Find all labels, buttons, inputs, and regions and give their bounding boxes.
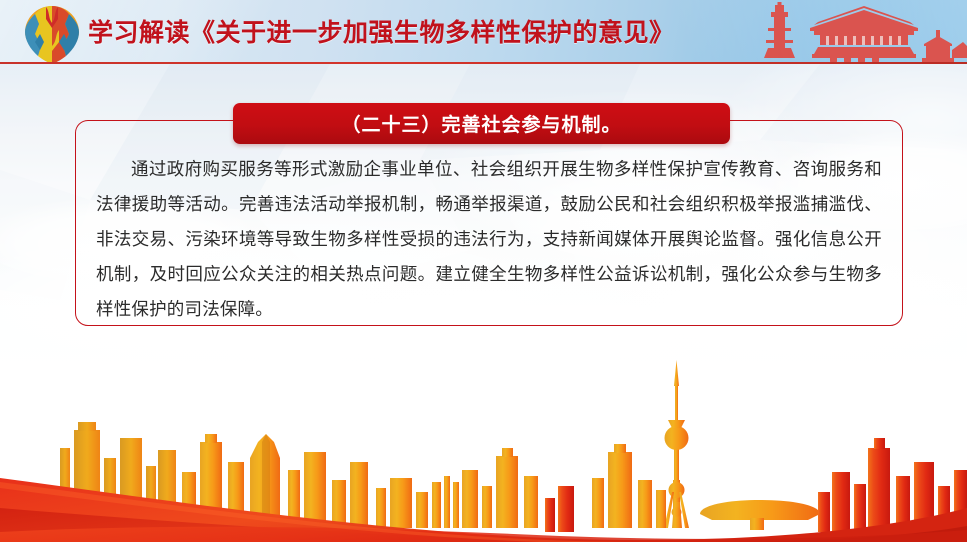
header-divider-rule — [0, 62, 967, 64]
slide-root: 学习解读《关于进一步加强生物多样性保护的意见》 （二十三）完善社会参与机制。 通… — [0, 0, 967, 542]
page-title: 学习解读《关于进一步加强生物多样性保护的意见》 — [88, 13, 675, 49]
page-header: 学习解读《关于进一步加强生物多样性保护的意见》 — [0, 0, 967, 64]
section-banner: （二十三）完善社会参与机制。 — [233, 103, 730, 144]
section-banner-label: （二十三）完善社会参与机制。 — [341, 110, 621, 137]
oriental-pearl-tower-icon — [664, 360, 689, 528]
city-skyline-silhouette — [0, 330, 967, 542]
footer-graphic — [0, 330, 967, 542]
body-paragraph: 通过政府购买服务等形式激励企事业单位、社会组织开展生物多样性保护宣传教育、咨询服… — [96, 152, 882, 327]
tiananmen-gate-icon — [752, 2, 967, 64]
body-text: 通过政府购买服务等形式激励企事业单位、社会组织开展生物多样性保护宣传教育、咨询服… — [96, 152, 882, 327]
hot-air-balloon-icon — [21, 4, 83, 64]
